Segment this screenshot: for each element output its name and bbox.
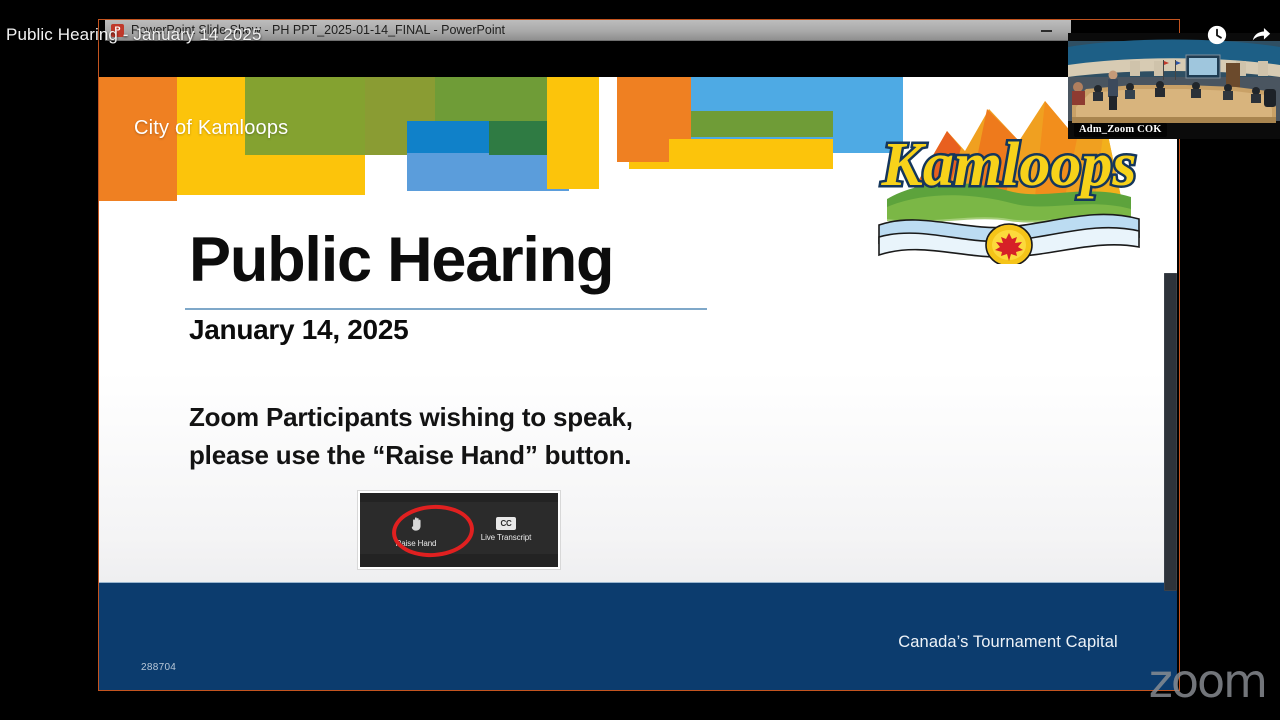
presentation-slide: City of Kamloops Public Hearing January … — [99, 77, 1177, 690]
slide-number: 288704 — [141, 662, 176, 673]
shared-screen-region: P PowerPoint Slide Show - PH PPT_2025-01… — [98, 19, 1180, 691]
slide-date: January 14, 2025 — [189, 314, 408, 346]
logo-tagline: Canada’s Tournament Capital — [883, 633, 1133, 652]
participant-video-thumbnail[interactable]: Adm_Zoom COK — [1068, 33, 1280, 139]
red-highlight-ellipse — [390, 502, 475, 560]
zoom-toolbar-screenshot: Raise Hand CC Live Transcript — [358, 491, 560, 569]
title-divider — [185, 308, 707, 310]
zoom-top-right-controls — [1206, 24, 1272, 46]
logo-wordmark: Kamloops — [881, 131, 1137, 199]
live-transcript-label: Live Transcript — [464, 533, 548, 542]
slide-body-line-1: Zoom Participants wishing to speak, — [189, 399, 633, 437]
zoom-watermark: zoom — [1149, 654, 1266, 708]
participant-name-label: Adm_Zoom COK — [1074, 123, 1167, 137]
slide-title: Public Hearing — [189, 229, 613, 292]
shared-window-scrollbar[interactable] — [1164, 273, 1177, 591]
slide-body-line-2: please use the “Raise Hand” button. — [189, 437, 633, 475]
live-transcript-control: CC Live Transcript — [464, 517, 548, 542]
zoom-meeting-window: Public Hearing - January 14 2025 P Power… — [0, 0, 1280, 720]
meeting-title: Public Hearing - January 14 2025 — [6, 25, 262, 45]
share-arrow-icon[interactable] — [1250, 24, 1272, 46]
organization-name: City of Kamloops — [134, 117, 288, 140]
minimize-button[interactable] — [1031, 20, 1061, 41]
clock-icon[interactable] — [1206, 24, 1228, 46]
slide-body-text: Zoom Participants wishing to speak, plea… — [189, 399, 633, 475]
closed-caption-icon: CC — [496, 517, 516, 530]
